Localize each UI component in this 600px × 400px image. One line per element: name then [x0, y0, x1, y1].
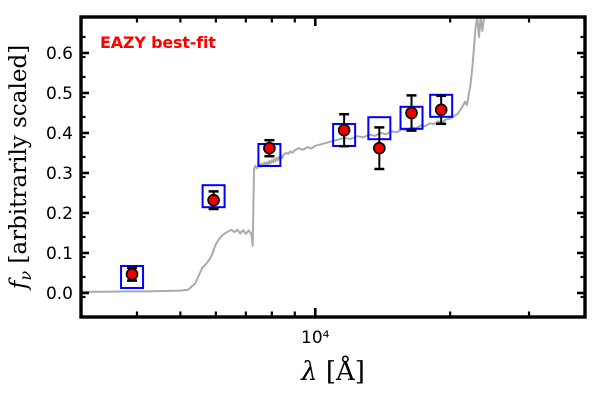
y-axis-label: fν [arbitrarily scaled] [6, 45, 35, 291]
axis-ticks: 0.00.10.20.30.40.50.610⁴ [46, 17, 585, 348]
observed-photometry-point [264, 140, 275, 156]
y-tick-label: 0.5 [46, 84, 73, 104]
y-tick-label: 0.6 [46, 44, 73, 64]
y-tick-label: 0.1 [46, 244, 73, 264]
observed-photometry-point [406, 95, 417, 130]
y-tick-label: 0.4 [46, 124, 73, 144]
observed-photometry-point [127, 268, 138, 281]
model-spectrum-line [81, 17, 494, 292]
x-axis-label: λ [Å] [300, 355, 365, 387]
eazy-best-fit-legend-label: EAZY best-fit [100, 33, 216, 52]
observed-photometry-point [339, 114, 350, 146]
axes-frame [81, 17, 585, 317]
y-tick-label: 0.0 [46, 284, 73, 304]
plot-canvas: 0.00.10.20.30.40.50.610⁴λ [Å]fν [arbitra… [0, 0, 600, 400]
y-tick-label: 0.2 [46, 204, 73, 224]
sed-figure: 0.00.10.20.30.40.50.610⁴λ [Å]fν [arbitra… [0, 0, 600, 400]
data-layer [81, 17, 494, 292]
y-tick-label: 0.3 [46, 164, 73, 184]
x-tick-label: 10⁴ [301, 328, 330, 348]
